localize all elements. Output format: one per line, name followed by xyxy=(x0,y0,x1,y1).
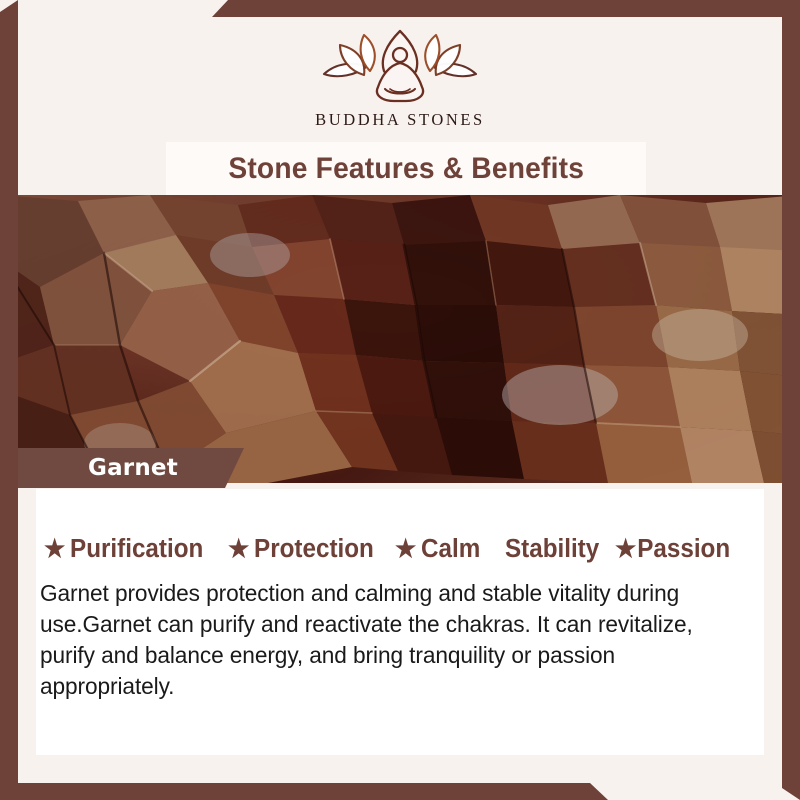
garnet-raw-stones-photo xyxy=(0,195,800,483)
keyword-list: ★ Purification ★ Protection ★ Calm Stabi… xyxy=(44,529,756,569)
frame-right-border xyxy=(782,0,800,800)
brand-logo-area: BUDDHA STONES xyxy=(18,17,782,145)
lotus-meditation-icon xyxy=(316,29,484,105)
star-icon: ★ xyxy=(615,537,636,562)
star-icon: ★ xyxy=(44,537,65,562)
stone-name-text: Garnet xyxy=(18,455,178,481)
stone-info-card: BUDDHA STONES Stone Features & Benefits xyxy=(0,0,800,800)
keyword-label: Passion xyxy=(637,535,730,564)
brand-name-text: BUDDHA STONES xyxy=(315,110,485,130)
keyword-label: Stability xyxy=(505,535,599,564)
keyword-calm: ★ Calm xyxy=(395,535,480,564)
frame-bottom-border xyxy=(0,783,800,800)
keyword-label: Purification xyxy=(70,535,203,564)
keyword-label: Calm xyxy=(421,535,480,564)
title-band: Stone Features & Benefits xyxy=(166,142,646,195)
keyword-label: Protection xyxy=(254,535,374,564)
keyword-purification: ★ Purification xyxy=(44,535,203,564)
page-title: Stone Features & Benefits xyxy=(228,152,584,186)
keyword-protection: ★ Protection xyxy=(228,535,374,564)
keyword-stability: Stability xyxy=(505,535,599,564)
frame-left-border xyxy=(0,0,18,800)
stone-name-banner: Garnet xyxy=(18,448,244,488)
stone-description: Garnet provides protection and calming a… xyxy=(40,578,731,702)
star-icon: ★ xyxy=(228,537,249,562)
frame-top-border xyxy=(0,0,800,17)
keyword-passion: ★ Passion xyxy=(615,535,730,564)
star-icon: ★ xyxy=(395,537,416,562)
